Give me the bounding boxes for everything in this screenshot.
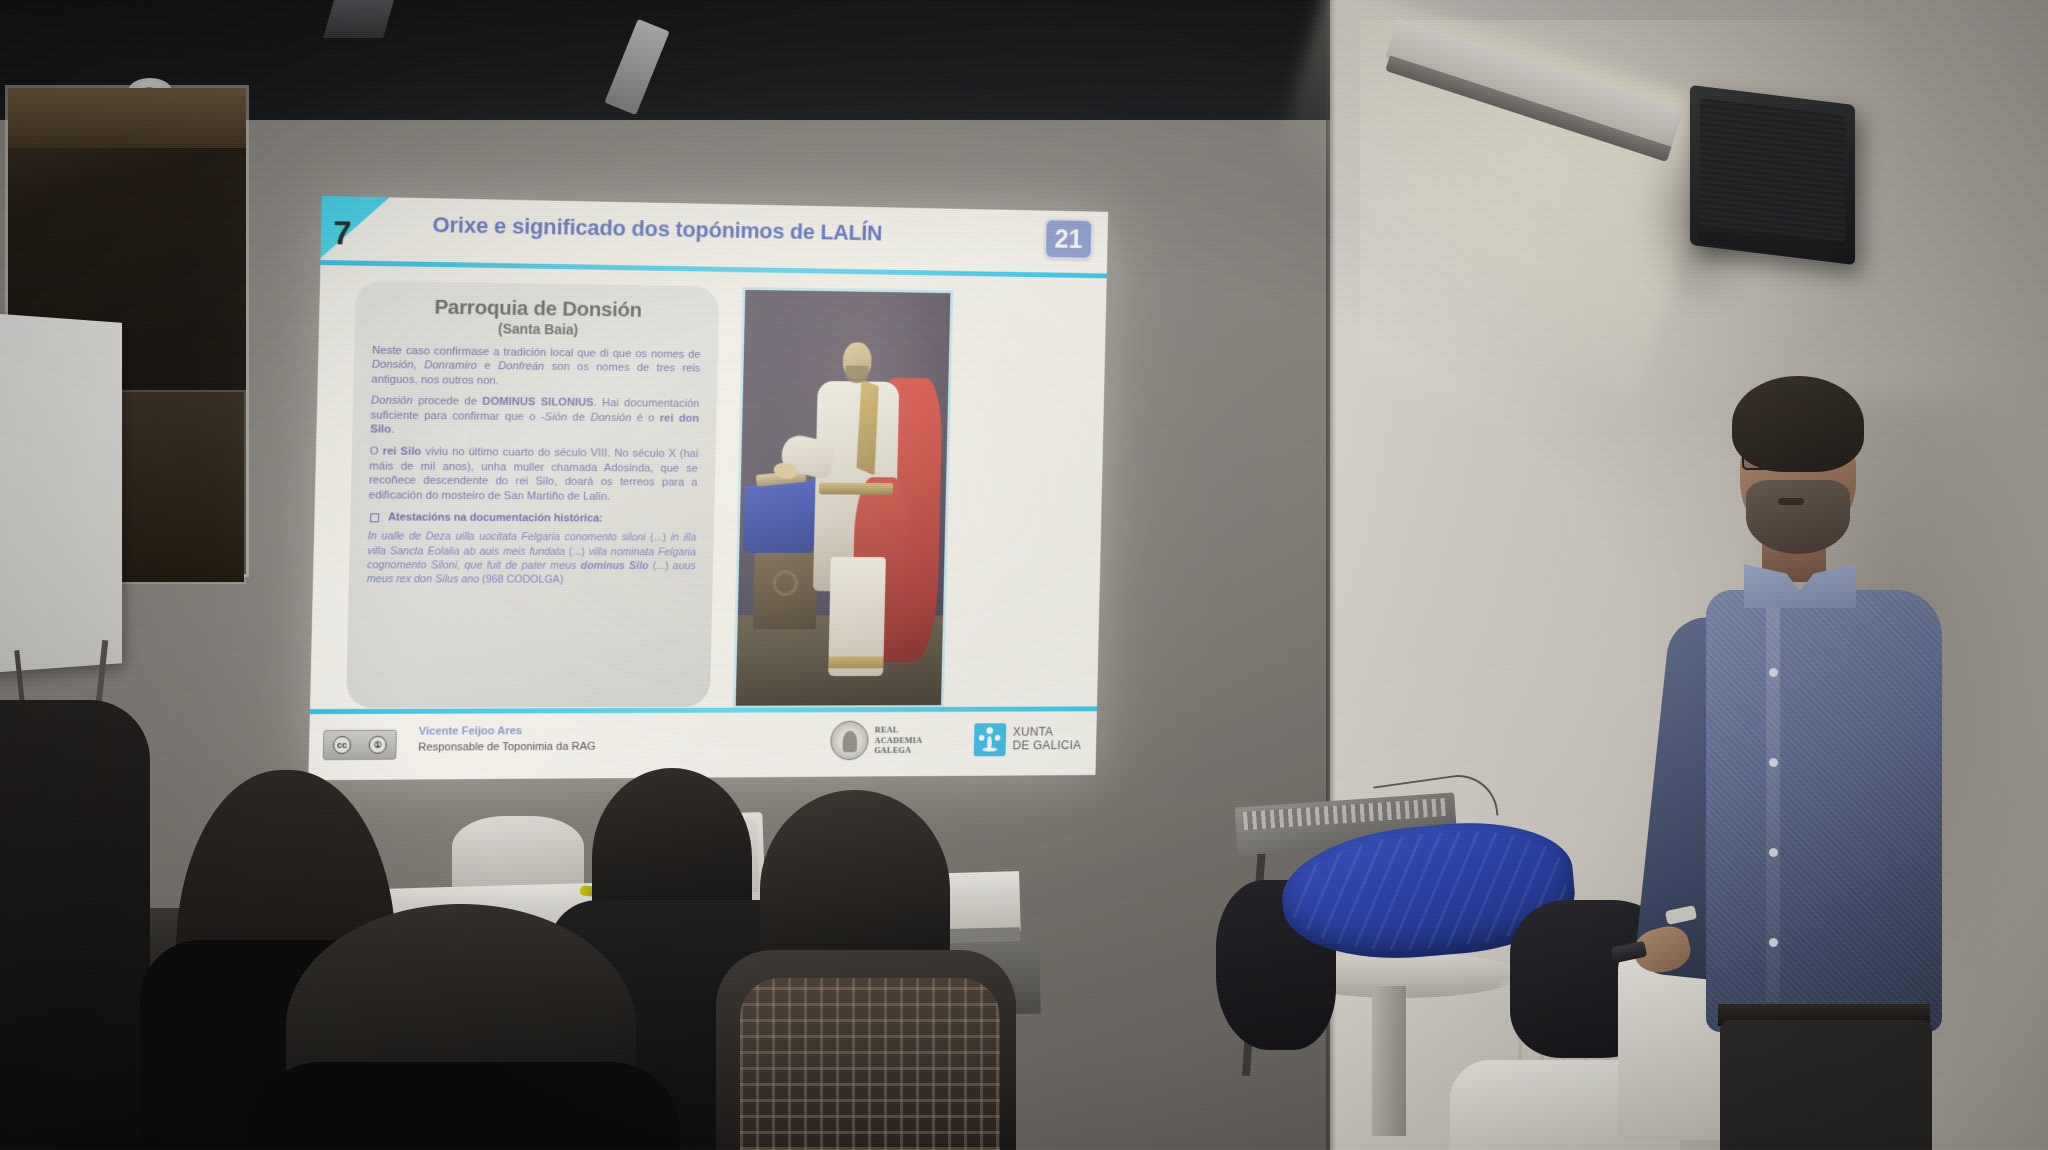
section-number: 7 xyxy=(333,214,351,252)
by-mark-icon: ① xyxy=(369,736,387,754)
panel-paragraph: Donsión procede de DOMINUS SILONIUS. Hai… xyxy=(370,394,700,441)
slide-title: Orixe e significado dos topónimos de LAL… xyxy=(432,212,972,248)
rag-logo-text: REAL ACADEMIA GALEGA xyxy=(874,725,923,756)
whiteboard xyxy=(0,313,122,673)
audience-body-foreground xyxy=(250,1062,680,1150)
plaid-shirt xyxy=(740,978,1000,1150)
cc-by-icon: cc ① xyxy=(323,730,397,760)
content-panel: Parroquia de Donsión (Santa Baia) Neste … xyxy=(346,281,720,708)
slide-body: Parroquia de Donsión (Santa Baia) Neste … xyxy=(310,266,1107,712)
panel-paragraph: O rei Silo viviu no último cuarto do séc… xyxy=(369,445,699,505)
lecture-room-scene: 7 Orixe e significado dos topónimos de L… xyxy=(0,0,2048,1150)
rag-line-3: GALEGA xyxy=(874,745,911,755)
ceiling-rail xyxy=(323,0,397,38)
panel-paragraphs: Neste caso confirmase a tradición local … xyxy=(369,343,701,505)
attestations-heading: Atestacións na documentación histórica: xyxy=(370,512,697,526)
xunta-de-galicia-logo: XUNTA DE GALICIA xyxy=(974,723,1082,756)
ceiling-light-panel xyxy=(604,19,669,115)
presenter-shirt xyxy=(1706,590,1942,1032)
panel-subtitle: (Santa Baia) xyxy=(372,319,701,339)
author-role: Responsable de Toponimia da RAG xyxy=(418,741,596,754)
framed-artwork-lower xyxy=(118,392,244,582)
presenter xyxy=(1700,368,2048,1150)
checkbox-icon xyxy=(370,514,379,523)
attestations-label: Atestacións na documentación histórica: xyxy=(388,512,603,525)
beard xyxy=(1746,480,1850,554)
table-stem xyxy=(1372,986,1406,1136)
author-name: Vicente Feijoo Ares xyxy=(419,725,523,737)
presenter-trousers xyxy=(1720,1020,1932,1150)
panel-title: Parroquia de Donsión xyxy=(373,295,702,323)
xunta-chalice-icon xyxy=(974,723,1007,756)
xunta-logo-text: XUNTA DE GALICIA xyxy=(1012,726,1081,753)
chair xyxy=(452,816,584,894)
xunta-line-1: XUNTA xyxy=(1013,725,1054,739)
king-silo-portrait xyxy=(733,287,954,709)
rag-seal-icon xyxy=(830,721,869,760)
wall-speaker xyxy=(1690,85,1855,265)
corner-triangle-icon xyxy=(321,196,390,259)
panel-paragraph: Neste caso confirmase a tradición local … xyxy=(371,343,700,390)
hair xyxy=(1732,376,1864,472)
real-academia-galega-logo: REAL ACADEMIA GALEGA xyxy=(830,721,922,760)
cc-mark-icon: cc xyxy=(333,736,351,754)
rag-line-1: REAL xyxy=(875,725,899,735)
slide-footer: cc ① Vicente Feijoo Ares Responsable de … xyxy=(308,711,1097,780)
audience-member-left xyxy=(0,700,150,1150)
latin-quotation: In ualle de Deza uilla uocitata Felgaria… xyxy=(367,530,697,587)
projected-slide: 7 Orixe e significado dos topónimos de L… xyxy=(308,196,1108,780)
rag-line-2: ACADEMIA xyxy=(874,735,922,745)
xunta-line-2: DE GALICIA xyxy=(1012,738,1081,752)
page-number-badge: 21 xyxy=(1044,218,1093,259)
